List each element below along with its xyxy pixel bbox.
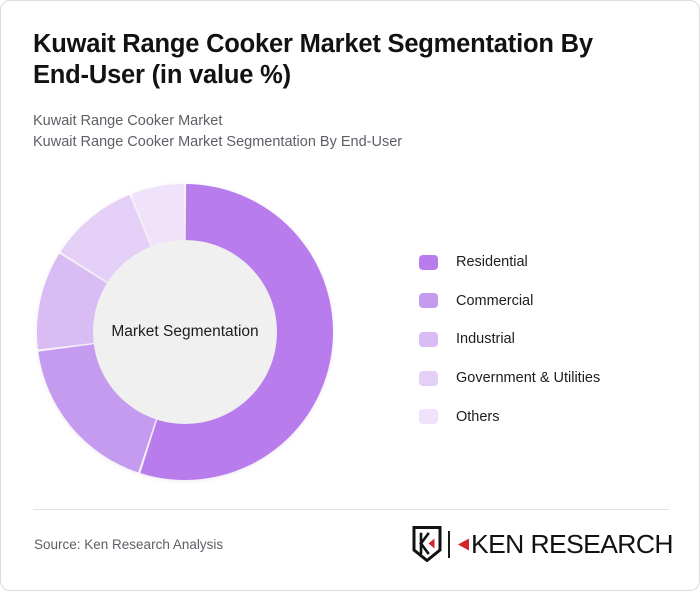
subtitle-segmentation: Kuwait Range Cooker Market Segmentation … bbox=[33, 132, 653, 153]
brand-name-text: KEN RESEARCH bbox=[471, 529, 673, 560]
ken-research-shield-icon bbox=[412, 526, 442, 562]
legend-item-label: Commercial bbox=[456, 293, 533, 309]
footer-divider bbox=[33, 509, 669, 510]
legend-item[interactable]: Industrial bbox=[419, 320, 669, 359]
subtitle-market: Kuwait Range Cooker Market bbox=[33, 111, 653, 132]
donut-svg bbox=[35, 182, 335, 482]
donut-chart: Market Segmentation bbox=[35, 182, 335, 482]
chart-card: Kuwait Range Cooker Market Segmentation … bbox=[0, 0, 700, 591]
brand-wordmark: KEN RESEARCH bbox=[457, 529, 669, 560]
legend-item[interactable]: Residential bbox=[419, 243, 669, 282]
legend-item-label: Others bbox=[456, 409, 500, 425]
legend-item-label: Government & Utilities bbox=[456, 370, 600, 386]
subtitle-group: Kuwait Range Cooker Market Kuwait Range … bbox=[33, 111, 653, 153]
chart-area: Market Segmentation ResidentialCommercia… bbox=[1, 161, 700, 506]
legend-item[interactable]: Commercial bbox=[419, 282, 669, 321]
red-triangle-icon bbox=[457, 537, 470, 552]
chart-legend: ResidentialCommercialIndustrialGovernmen… bbox=[419, 243, 669, 436]
donut-hole bbox=[93, 240, 277, 424]
brand-separator bbox=[448, 531, 450, 558]
brand-logo: KEN RESEARCH bbox=[412, 525, 669, 563]
source-note: Source: Ken Research Analysis bbox=[34, 537, 223, 552]
legend-swatch-icon bbox=[419, 409, 438, 424]
legend-item[interactable]: Government & Utilities bbox=[419, 359, 669, 398]
legend-item[interactable]: Others bbox=[419, 397, 669, 436]
legend-swatch-icon bbox=[419, 332, 438, 347]
legend-item-label: Residential bbox=[456, 254, 528, 270]
legend-swatch-icon bbox=[419, 255, 438, 270]
page-title: Kuwait Range Cooker Market Segmentation … bbox=[33, 29, 653, 91]
legend-swatch-icon bbox=[419, 371, 438, 386]
legend-item-label: Industrial bbox=[456, 331, 515, 347]
legend-swatch-icon bbox=[419, 293, 438, 308]
